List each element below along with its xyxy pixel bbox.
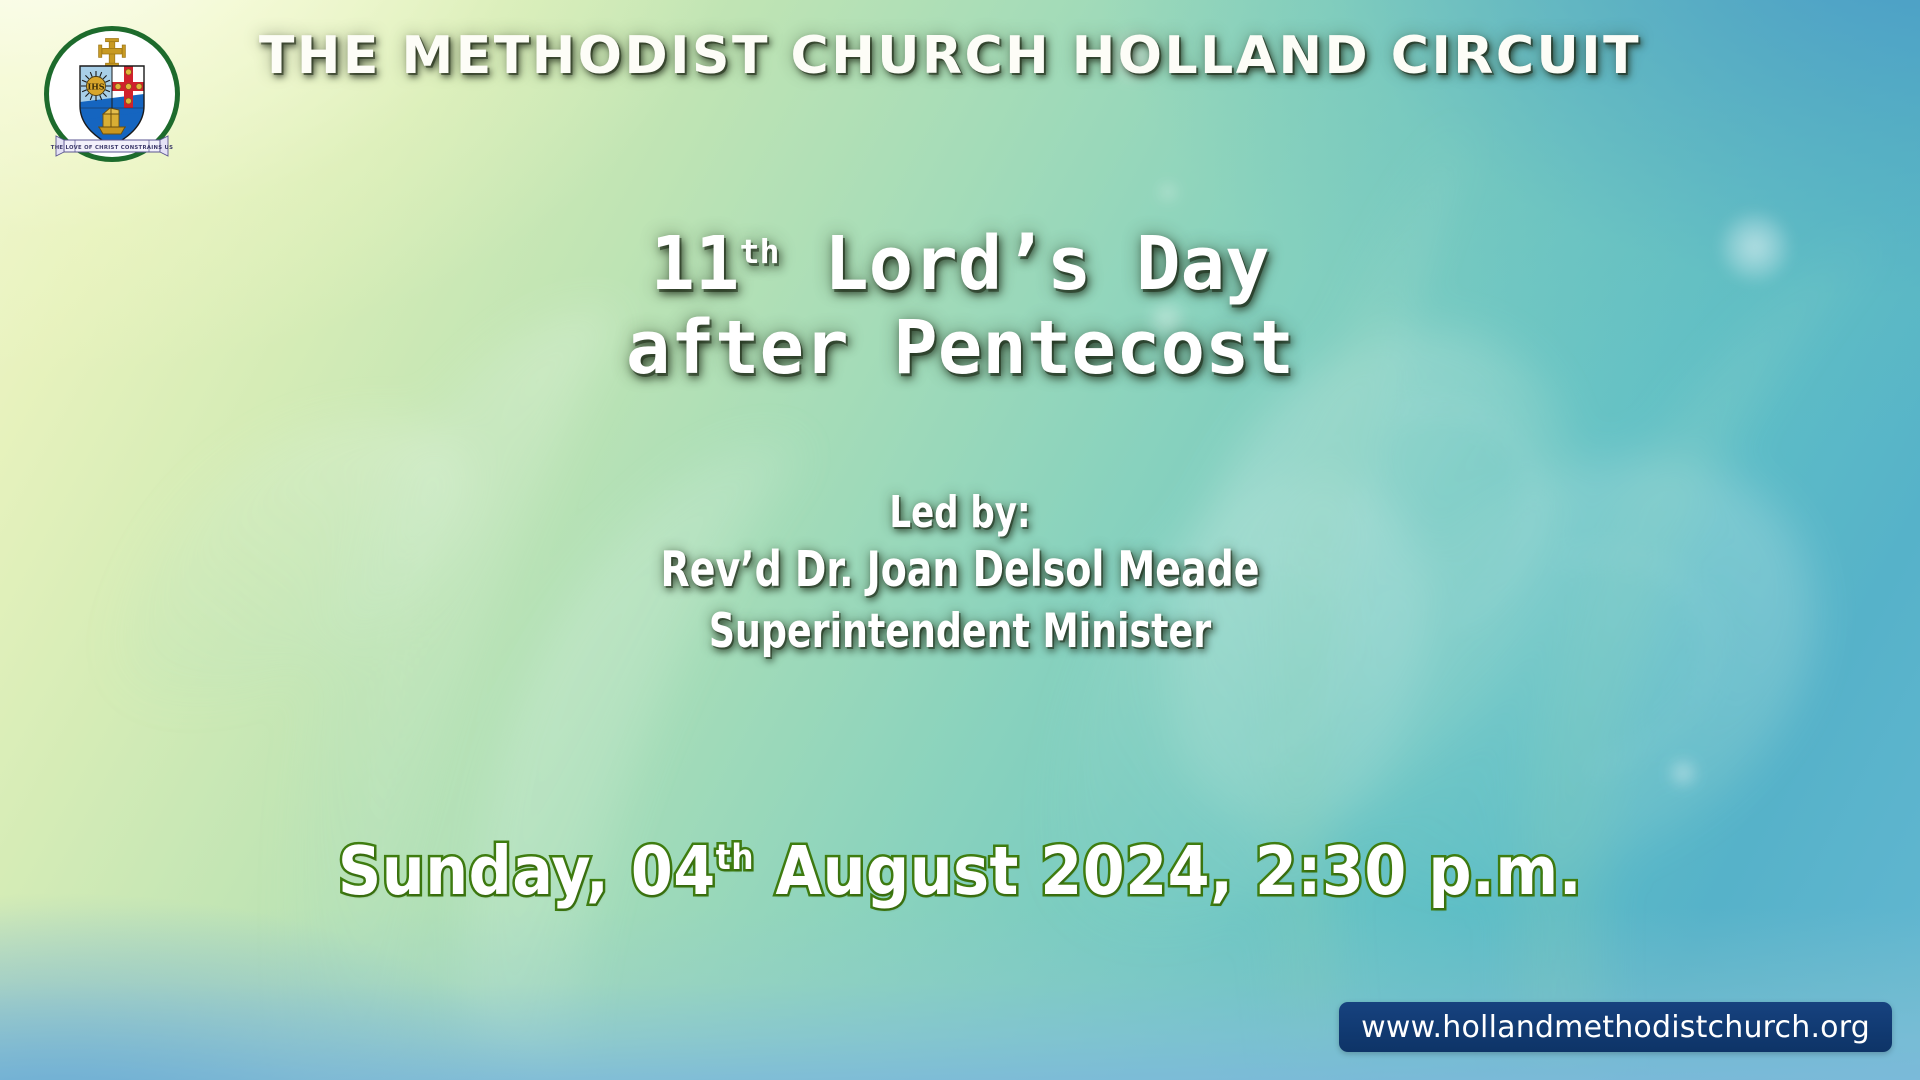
minister-name: Rev’d Dr. Joan Delsol Meade (134, 542, 1785, 599)
website-url-text: www.hollandmethodistchurch.org (1361, 1010, 1870, 1045)
bokeh-light-5 (1158, 182, 1178, 202)
date-ordinal: th (716, 838, 754, 878)
service-datetime: Sunday, 04th August 2024, 2:30 p.m. (0, 832, 1920, 910)
lords-day-ordinal: th (739, 232, 779, 271)
led-by-block: Led by: Rev’d Dr. Joan Delsol Meade Supe… (0, 487, 1920, 659)
date-prefix: Sunday, 04 (338, 832, 716, 910)
service-announcement-slide: IHS (0, 0, 1920, 1080)
svg-text:IHS: IHS (87, 81, 104, 91)
lords-day-text: Lord’s Day (780, 221, 1270, 307)
minister-role: Superintendent Minister (134, 605, 1785, 660)
svg-text:THE LOVE OF CHRIST CONSTRAINS: THE LOVE OF CHRIST CONSTRAINS US (51, 145, 173, 151)
bokeh-light-4 (1668, 758, 1698, 788)
lords-day-number: 11 (650, 221, 739, 307)
service-heading: 11th Lord’s Day after Pentecost (0, 222, 1920, 391)
led-by-label: Led by: (134, 487, 1785, 538)
date-suffix: August 2024, 2:30 p.m. (754, 832, 1582, 910)
website-url-banner[interactable]: www.hollandmethodistchurch.org (1339, 1002, 1892, 1052)
heading-line-2: after Pentecost (0, 306, 1920, 390)
page-title: THE METHODIST CHURCH HOLLAND CIRCUIT (200, 26, 1700, 86)
heading-line-1: 11th Lord’s Day (0, 222, 1920, 306)
methodist-crest-logo: IHS (42, 24, 182, 164)
